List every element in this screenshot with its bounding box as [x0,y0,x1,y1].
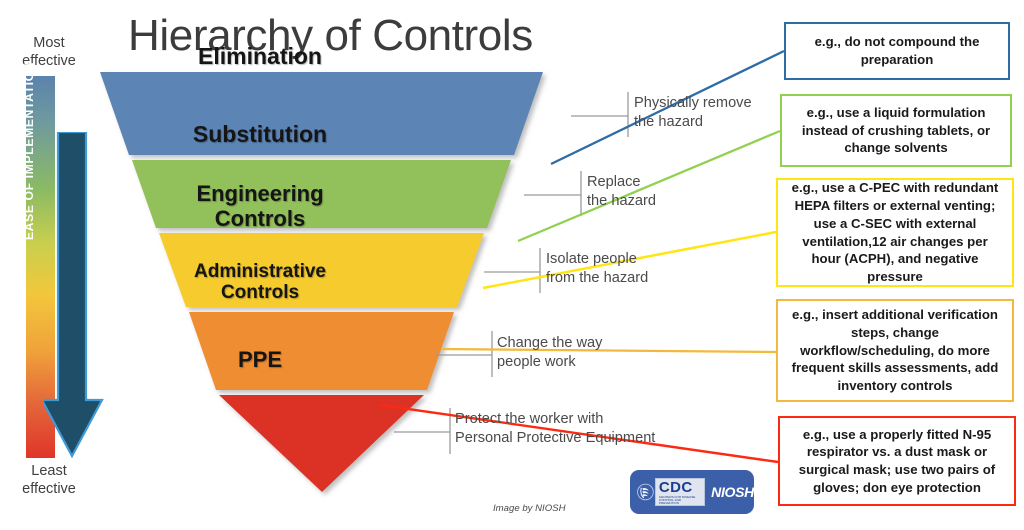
tick-elimination [571,92,628,137]
niosh-wordmark: NIOSH [711,484,754,500]
page-title: Hierarchy of Controls [128,11,533,61]
effectiveness-scale: Most effective EASE OF IMPLEMENTATION Le… [0,0,110,530]
image-credit: Image by NIOSH [493,503,566,514]
tick-administrative [436,331,492,377]
funnel-band-elimination [100,72,543,155]
funnel-band-ppe [219,395,424,492]
hhs-seal-icon [636,474,655,510]
funnel-label-substitution: Substitution [100,122,420,148]
hierarchy-of-controls-infographic: Most effective EASE OF IMPLEMENTATION Le… [0,0,1024,530]
funnel-label-administrative: Administrative Controls [110,261,410,304]
description-administrative: Change the way people work [497,334,602,373]
most-effective-label: Most effective [0,34,104,70]
callout-engineering: e.g., use a C-PEC with redundant HEPA fi… [776,178,1014,287]
callout-ppe: e.g., use a properly fitted N-95 respira… [778,416,1016,506]
tick-ppe [394,408,450,454]
tick-engineering [484,248,540,293]
funnel-label-engineering: Engineering Controls [100,182,420,231]
description-elimination: Physically remove the hazard [634,94,752,133]
cdc-niosh-logo: CDC CENTERS FOR DISEASE CONTROL AND PREV… [630,470,754,514]
funnel-band-administrative [189,312,454,390]
funnel-band-engineering [159,233,484,307]
callout-administrative: e.g., insert additional verification ste… [776,299,1014,402]
description-ppe: Protect the worker with Personal Protect… [455,410,655,449]
tick-substitution [524,171,581,216]
callout-elimination: e.g., do not compound the preparation [784,22,1010,80]
cdc-wordmark: CDC CENTERS FOR DISEASE CONTROL AND PREV… [655,478,705,506]
description-substitution: Replace the hazard [587,173,656,212]
effectiveness-gradient-bar [26,76,55,458]
funnel-label-ppe: PPE [120,348,400,373]
description-engineering: Isolate people from the hazard [546,250,648,289]
least-effective-label: Least effective [0,462,104,498]
leader-line-administrative [442,349,776,352]
callout-substitution: e.g., use a liquid formulation instead o… [780,94,1012,167]
funnel-band-substitution [132,160,511,228]
